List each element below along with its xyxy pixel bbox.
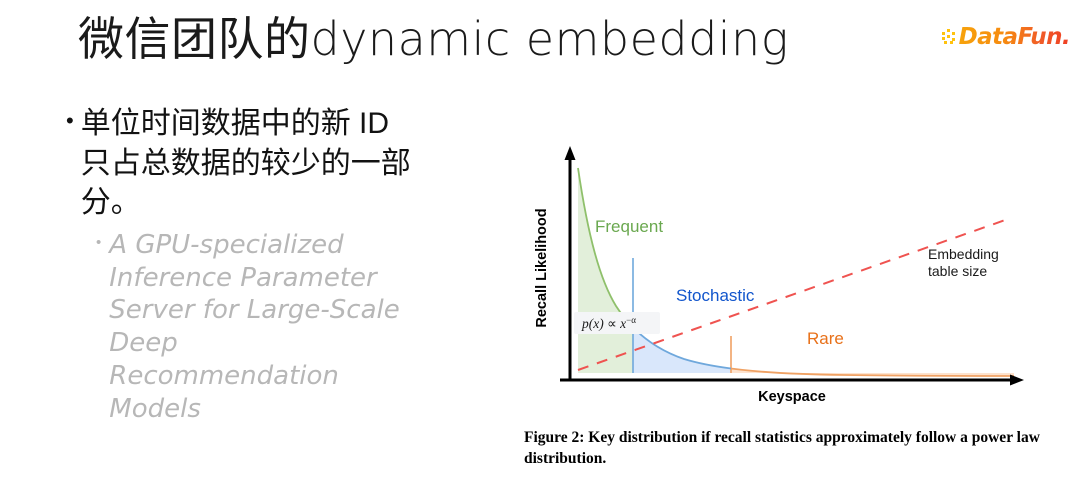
datafun-logo: DataFun. [942,24,1070,50]
y-axis-label: Recall Likelihood [534,208,550,327]
rare-label: Rare [807,329,844,348]
embedding-table-size-line [578,218,1011,370]
figure-caption: Figure 2: Key distribution if recall sta… [524,428,1044,470]
power-law-formula: p(x) ∝ x−α [574,312,660,334]
bullet-text-primary: 单位时间数据中的新 ID 只占总数据的较少的一部分。 [81,104,411,223]
page-title: 微信团队的dynamic embedding [78,12,789,67]
embedding-table-size-label: Embedding table size [928,246,1003,279]
page-title-en: dynamic embedding [311,12,789,66]
stochastic-label: Stochastic [676,286,755,305]
bullet-item-primary: • 单位时间数据中的新 ID 只占总数据的较少的一部分。 [66,104,536,223]
embedding-table-size-line2: table size [928,263,987,279]
chart-area: Recall Likelihood Keyspace p(x) ∝ x−α Fr… [534,140,1024,405]
bullet-marker-icon: • [66,104,74,137]
bullet-text-secondary: A GPU-specialized Inference Parameter Se… [109,229,409,426]
sub-bullet-marker-icon: • [96,229,101,255]
x-axis-label: Keyspace [758,389,826,405]
bullet-item-secondary: • A GPU-specialized Inference Parameter … [96,229,536,426]
logo-dots-icon [942,29,958,45]
embedding-table-size-line1: Embedding [928,246,999,262]
page-title-cn: 微信团队的 [78,13,311,65]
logo-wordmark: DataFun. [959,24,1070,50]
figure-block: Recall Likelihood Keyspace p(x) ∝ x−α Fr… [524,140,1044,425]
bullet-list: • 单位时间数据中的新 ID 只占总数据的较少的一部分。 • A GPU-spe… [66,104,536,425]
sub-bullet-list: • A GPU-specialized Inference Parameter … [96,229,536,426]
key-distribution-chart: Recall Likelihood Keyspace p(x) ∝ x−α Fr… [524,140,1044,425]
frequent-label: Frequent [595,217,663,236]
